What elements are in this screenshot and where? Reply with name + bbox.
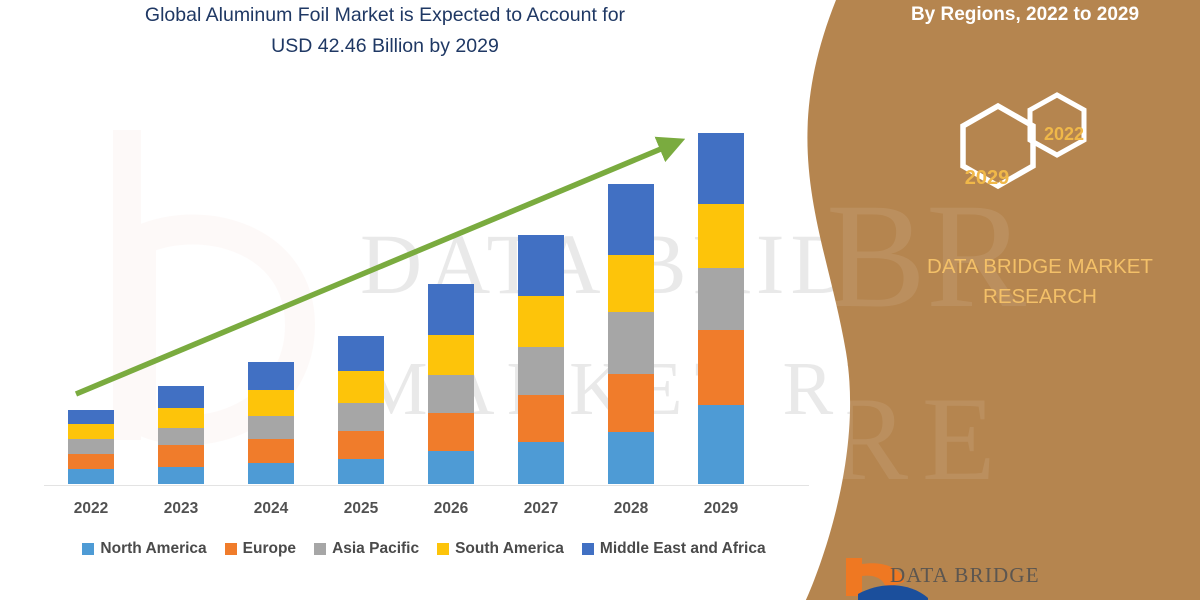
legend-label: South America — [455, 540, 564, 558]
bar-segment — [518, 442, 564, 484]
bar-segment — [518, 395, 564, 442]
bar-segment — [608, 312, 654, 374]
hexagon-badges-icon — [920, 88, 1120, 223]
legend-label: Middle East and Africa — [600, 540, 766, 558]
bar-column-2028 — [608, 184, 654, 484]
chart-legend: North AmericaEuropeAsia PacificSouth Ame… — [44, 540, 804, 558]
bar-segment — [518, 235, 564, 296]
legend-item[interactable]: North America — [82, 540, 206, 558]
legend-item[interactable]: Middle East and Africa — [582, 540, 766, 558]
bar-segment — [698, 405, 744, 484]
bar-segment — [338, 336, 384, 371]
bar-segment — [248, 390, 294, 416]
bar-segment — [68, 439, 114, 454]
bar-column-2025 — [338, 336, 384, 484]
page-title: Global Aluminum Foil Market is Expected … — [75, 0, 695, 62]
bar-segment — [698, 330, 744, 405]
brand-name: DATA BRIDGE MARKET RESEARCH — [890, 252, 1190, 312]
bar-segment — [68, 469, 114, 484]
bar-segment — [428, 413, 474, 451]
x-axis-label-2028: 2028 — [586, 500, 676, 518]
bar-segment — [338, 459, 384, 484]
legend-item[interactable]: Asia Pacific — [314, 540, 419, 558]
bar-segment — [248, 439, 294, 463]
infographic-canvas: DATA BRIDGE MARKET RESEARCH 202220232024… — [0, 0, 1200, 600]
chart-plot-area: 20222023202420252026202720282029 — [0, 0, 830, 600]
x-axis-label-2024: 2024 — [226, 500, 316, 518]
bar-segment — [428, 375, 474, 413]
x-axis-label-2022: 2022 — [46, 500, 136, 518]
legend-swatch-icon — [225, 543, 237, 555]
bar-segment — [158, 386, 204, 408]
bar-segment — [158, 428, 204, 445]
x-axis-label-2027: 2027 — [496, 500, 586, 518]
bar-segment — [518, 347, 564, 395]
x-axis-line — [44, 485, 809, 486]
hexagon-label-2029: 2029 — [932, 167, 1042, 190]
bar-segment — [338, 371, 384, 403]
legend-swatch-icon — [82, 543, 94, 555]
bar-segment — [338, 431, 384, 459]
bar-segment — [68, 424, 114, 439]
bar-column-2022 — [68, 410, 114, 484]
legend-item[interactable]: Europe — [225, 540, 296, 558]
bar-column-2026 — [428, 284, 474, 484]
bar-segment — [608, 432, 654, 484]
x-axis-label-2026: 2026 — [406, 500, 496, 518]
bar-segment — [608, 374, 654, 432]
legend-label: North America — [100, 540, 206, 558]
bar-segment — [248, 463, 294, 484]
legend-label: Europe — [243, 540, 296, 558]
x-axis-label-2025: 2025 — [316, 500, 406, 518]
x-axis-label-2023: 2023 — [136, 500, 226, 518]
bar-segment — [428, 451, 474, 484]
page-title-line-2: USD 42.46 Billion by 2029 — [75, 31, 695, 62]
legend-label: Asia Pacific — [332, 540, 419, 558]
bar-column-2023 — [158, 386, 204, 484]
legend-swatch-icon — [582, 543, 594, 555]
hexagon-label-2022: 2022 — [1018, 124, 1110, 145]
bar-segment — [68, 410, 114, 424]
bar-segment — [248, 362, 294, 390]
bar-segment — [338, 403, 384, 431]
bar-segment — [428, 284, 474, 335]
legend-item[interactable]: South America — [437, 540, 564, 558]
bar-segment — [698, 268, 744, 330]
x-axis-label-2029: 2029 — [676, 500, 766, 518]
bar-segment — [518, 296, 564, 347]
bar-segment — [608, 255, 654, 312]
bar-column-2029 — [698, 133, 744, 484]
bar-segment — [608, 184, 654, 255]
panel-watermark-text-2: RE — [828, 370, 1009, 508]
bar-segment — [248, 416, 294, 439]
bar-segment — [428, 335, 474, 375]
page-title-line-1: Global Aluminum Foil Market is Expected … — [75, 0, 695, 31]
bar-column-2027 — [518, 235, 564, 484]
bar-column-2024 — [248, 362, 294, 484]
panel-title: By Regions, 2022 to 2029 — [860, 2, 1190, 28]
bar-segment — [158, 408, 204, 428]
bar-segment — [698, 133, 744, 204]
legend-swatch-icon — [314, 543, 326, 555]
logo-wordmark: DATA BRIDGE — [890, 563, 1040, 588]
bar-segment — [698, 204, 744, 268]
bar-segment — [158, 445, 204, 467]
legend-swatch-icon — [437, 543, 449, 555]
bar-segment — [68, 454, 114, 469]
brand-name-line-2: RESEARCH — [890, 282, 1190, 312]
brand-name-line-1: DATA BRIDGE MARKET — [890, 252, 1190, 282]
bar-segment — [158, 467, 204, 484]
